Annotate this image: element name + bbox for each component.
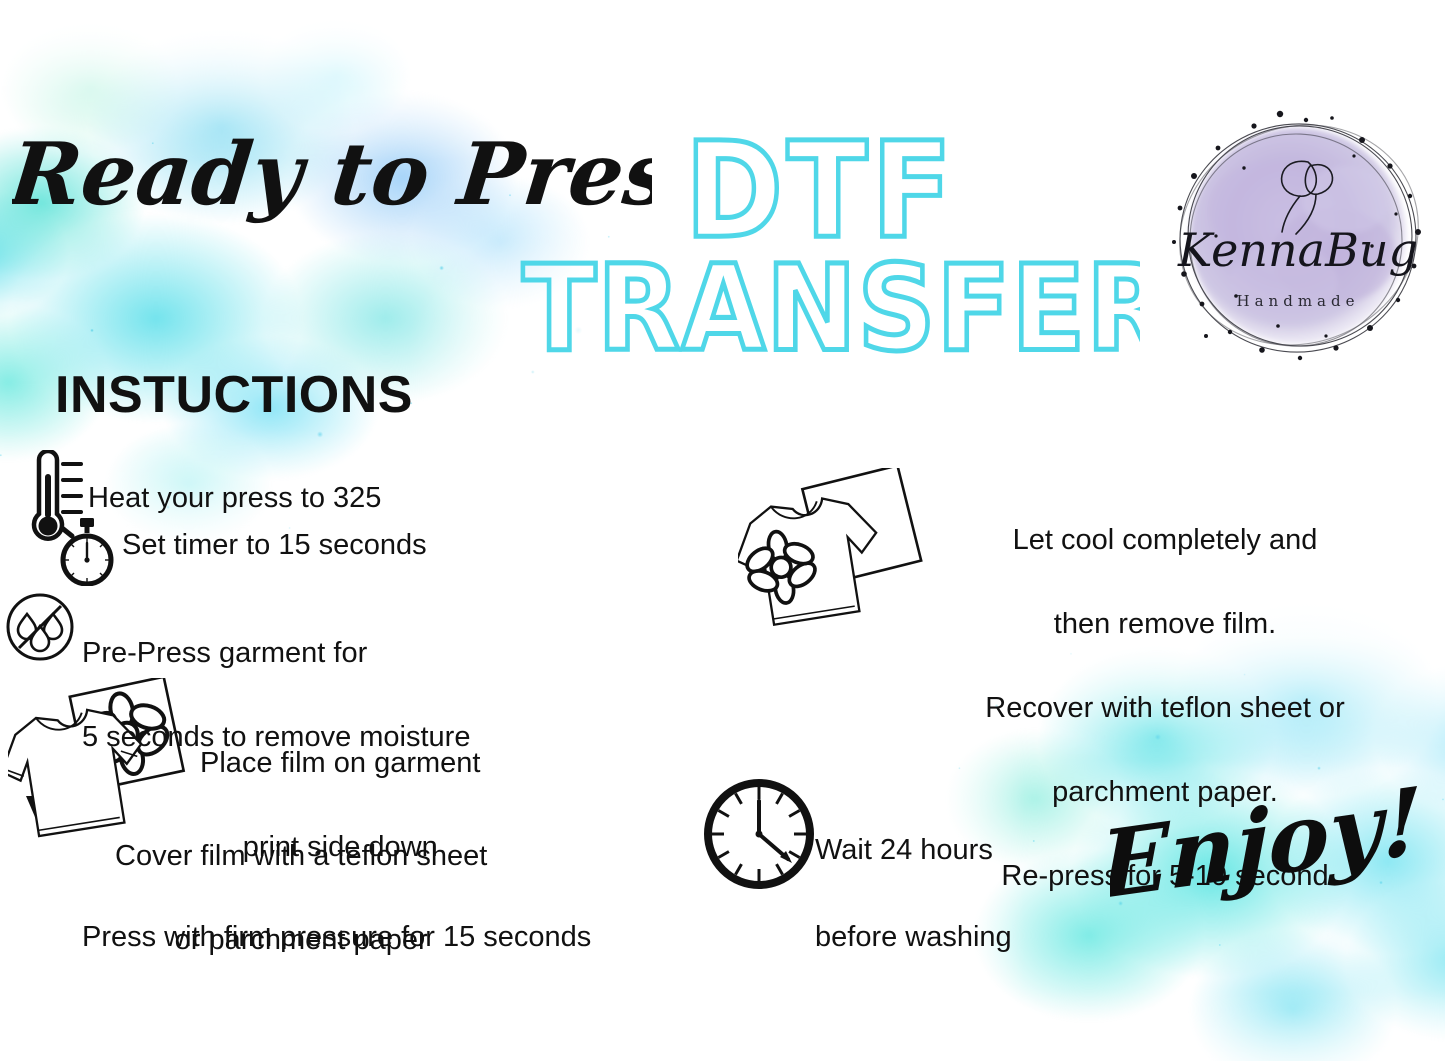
step-wait-line1: Wait 24 hours	[815, 829, 1012, 873]
step-wait-text: Wait 24 hours before washing	[815, 785, 1012, 1003]
step-cool-line3: Recover with teflon sheet or	[930, 687, 1400, 729]
step-cover-film-text: Cover film with a teflon sheet or parchm…	[115, 793, 487, 1003]
logo-tagline-text: Handmade	[1237, 292, 1360, 310]
step-prepress-line1: Pre-Press garment for	[82, 632, 470, 674]
enjoy-text: Enjoy!	[1110, 780, 1420, 921]
step-timer-text: Set timer to 15 seconds	[122, 524, 427, 566]
step-cool-line2: then remove film.	[930, 603, 1400, 645]
brand-logo: KennaBug Handmade	[1158, 96, 1438, 376]
step-cover-line1: Cover film with a teflon sheet	[115, 835, 487, 877]
outline-title-dtf-transfers: DTF TRANSFERS	[500, 122, 1140, 372]
no-moisture-icon	[5, 592, 75, 662]
step-wait-line2: before washing	[815, 916, 1012, 960]
enjoy-script-text: Enjoy!	[1110, 780, 1420, 940]
logo-brand-text: KennaBug	[1177, 223, 1418, 277]
instruction-card: Ready to Press DTF TRANSFERS	[0, 0, 1445, 1061]
step-cool-line1: Let cool completely and	[930, 519, 1400, 561]
step-press-text: Press with firm pressure for 15 seconds	[82, 916, 591, 958]
peel-film-icon	[738, 468, 938, 703]
step-place-line1: Place film on garment	[200, 742, 480, 784]
clock-icon	[700, 775, 818, 893]
instructions-heading: INSTUCTIONS	[55, 365, 413, 425]
outline-title-line2: TRANSFERS	[522, 240, 1140, 372]
stopwatch-icon	[55, 518, 119, 586]
step-heat-text: Heat your press to 325	[88, 477, 381, 519]
